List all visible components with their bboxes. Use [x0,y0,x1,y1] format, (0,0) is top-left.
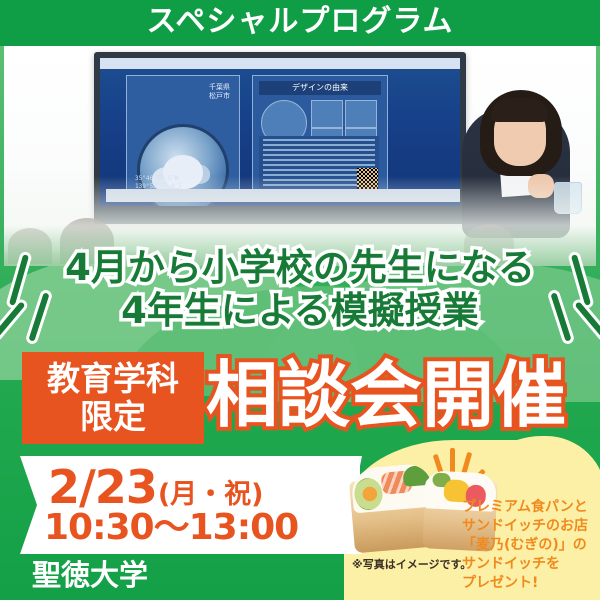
header-band: スペシャルプログラム [0,0,600,46]
sandwich-egg-filling [353,477,384,511]
slide-thumb-1 [311,100,343,128]
header-title: スペシャルプログラム [0,0,600,46]
monitor-toolbar [100,58,460,69]
gift-description: プレミアム食パンと サンドイッチのお店 「麦乃(むぎの)」の サンドイッチを プ… [462,498,588,593]
slide-manhole-design: 千葉県 松戸市 35°46′57.5″N 139°53′57.8″E [126,75,240,199]
qr-code-icon [357,168,378,189]
department-badge: 教育学科 限定 [22,352,204,444]
coordinate-line-2: 139°53′57.8″E [135,183,182,190]
presenter-hand [528,174,554,198]
monitor-statusbar [106,189,460,202]
koala-illustration [163,155,203,189]
badge-line-1: 教育学科 [47,360,179,398]
gift-description-line-3: 「麦乃(むぎの)」の [462,536,588,555]
promo-poster: 千葉県 松戸市 35°46′57.5″N 139°53′57.8″E デザインの… [0,0,600,600]
slide-body-text-block [259,136,379,192]
event-photo: 千葉県 松戸市 35°46′57.5″N 139°53′57.8″E デザインの… [4,46,596,266]
university-name: 聖徳大学 [32,558,148,592]
slide-design-origin: デザインの由来 [252,75,388,199]
headline-line-2: 4年生による模擬授業 [0,289,600,332]
manhole-cover-illustration [137,124,229,206]
slide-prefecture-text: 千葉県 [209,83,230,91]
slide-city-label: 千葉県 松戸市 [209,83,230,101]
photo-disclaimer: ※写真はイメージです。 [352,558,471,572]
slide-thumb-2 [345,100,377,128]
slide-right-title-text: デザインの由来 [259,81,381,95]
sparkle-line-2 [450,448,455,474]
event-date: 2/23 (月・祝) [48,462,264,512]
headline-line-1: 4月から小学校の先生になる [0,246,600,289]
main-title: 相談会開催 [206,346,596,444]
presentation-monitor: 千葉県 松戸市 35°46′57.5″N 139°53′57.8″E デザインの… [94,52,466,224]
event-time: 10:30〜13:00 [44,508,298,548]
gift-description-line-2: サンドイッチのお店 [462,517,588,536]
presenter-bangs [491,98,548,122]
monitor-screen: 千葉県 松戸市 35°46′57.5″N 139°53′57.8″E デザインの… [100,58,460,206]
gift-description-line-4: サンドイッチを [462,555,588,574]
gift-description-line-1: プレミアム食パンと [462,498,588,517]
headline: 4月から小学校の先生になる 4年生による模擬授業 [0,246,600,332]
slide-city-text: 松戸市 [209,92,230,100]
slide-coordinates: 35°46′57.5″N 139°53′57.8″E [135,175,182,191]
badge-line-2: 限定 [80,398,146,436]
presenter-prop [554,182,582,214]
gift-description-line-5: プレゼント! [462,574,588,593]
event-date-number: 2/23 [48,462,157,512]
coordinate-line-1: 35°46′57.5″N [135,175,178,182]
